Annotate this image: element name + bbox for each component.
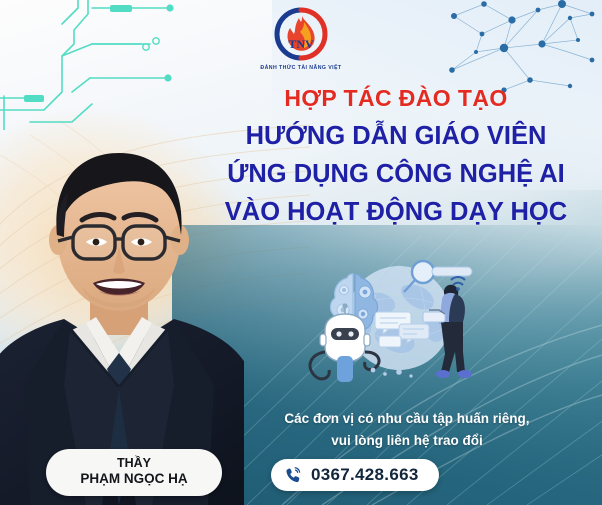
headline-line-1: HƯỚNG DẪN GIÁO VIÊN xyxy=(190,118,602,156)
logo-tagline: ĐÁNH THỨC TÀI NĂNG VIỆT xyxy=(241,65,361,71)
speaker-title: THẦY xyxy=(56,456,212,472)
brand-logo[interactable]: TNV ĐÁNH THỨC TÀI NĂNG VIỆT xyxy=(241,6,361,71)
headline-line-2: ỨNG DỤNG CÔNG NGHỆ AI xyxy=(190,156,602,194)
headline-line-3: VÀO HOẠT ĐỘNG DẠY HỌC xyxy=(190,194,602,232)
phone-button[interactable]: 0367.428.663 xyxy=(271,459,439,491)
headline-kicker: HỢP TÁC ĐÀO TẠO xyxy=(190,86,602,110)
speaker-portrait xyxy=(0,85,244,505)
svg-text:TNV: TNV xyxy=(288,37,314,51)
contact-line-1: Các đơn vị có nhu cầu tập huấn riêng, xyxy=(232,408,582,430)
logo-mark: TNV xyxy=(270,6,332,64)
ai-education-illustration xyxy=(303,252,483,387)
speaker-name: PHẠM NGỌC HẠ xyxy=(56,471,212,488)
speaker-name-badge: THẦY PHẠM NGỌC HẠ xyxy=(46,449,222,497)
headline-block: HỢP TÁC ĐÀO TẠO HƯỚNG DẪN GIÁO VIÊN ỨNG … xyxy=(190,86,602,231)
contact-line-2: vui lòng liên hệ trao đổi xyxy=(232,430,582,452)
phone-number: 0367.428.663 xyxy=(311,465,419,485)
contact-text: Các đơn vị có nhu cầu tập huấn riêng, vu… xyxy=(232,408,582,452)
poster-canvas: TNV ĐÁNH THỨC TÀI NĂNG VIỆT HỢP TÁC ĐÀO … xyxy=(0,0,602,505)
phone-ringing-icon xyxy=(284,466,303,485)
